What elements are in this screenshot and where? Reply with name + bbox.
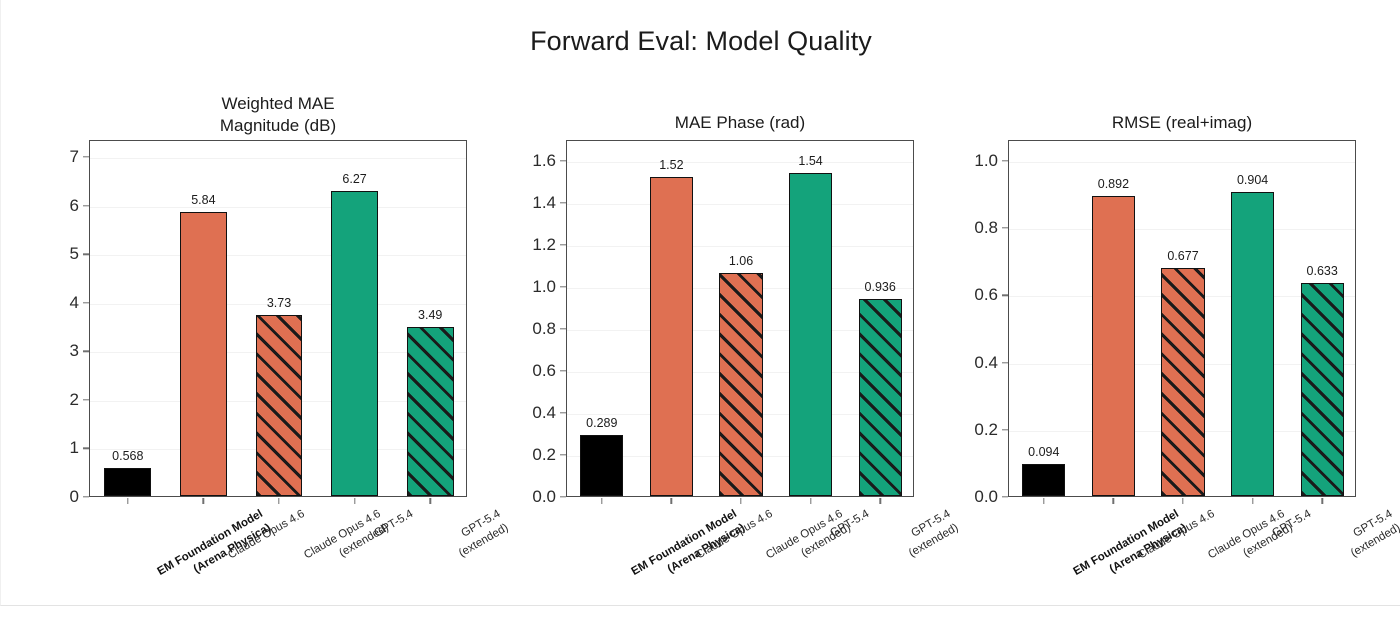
bar	[1092, 196, 1135, 496]
gridline	[1009, 229, 1355, 230]
x-tick-mark	[1113, 498, 1114, 504]
x-axis-category-label: Claude Opus 4.6 (extended)	[1206, 507, 1296, 577]
bar-value-label: 0.677	[1167, 249, 1198, 263]
y-tick-mark	[1002, 227, 1008, 228]
y-tick-mark	[1002, 362, 1008, 363]
plot-area: 0.0940.8920.6770.9040.633	[1008, 140, 1356, 497]
bar	[1231, 192, 1274, 496]
x-tick-mark	[1182, 498, 1183, 504]
bar-value-label: 0.892	[1098, 177, 1129, 191]
chart-panel-3: RMSE (real+imag)EM Foundation Model (Are…	[1, 0, 1400, 606]
x-tick-mark	[1043, 498, 1044, 504]
bar-value-label: 0.904	[1237, 173, 1268, 187]
y-tick-mark	[1002, 496, 1008, 497]
x-tick-mark	[1321, 498, 1322, 504]
y-tick-label: 0.6	[946, 285, 998, 305]
y-tick-mark	[1002, 429, 1008, 430]
bar	[1301, 283, 1344, 496]
y-tick-label: 1.0	[946, 151, 998, 171]
y-tick-label: 0.0	[946, 487, 998, 507]
bar	[1161, 268, 1204, 496]
panel-title: RMSE (real+imag)	[1008, 112, 1356, 134]
y-tick-mark	[1002, 295, 1008, 296]
y-tick-label: 0.8	[946, 218, 998, 238]
gridline	[1009, 162, 1355, 163]
bar	[1022, 464, 1065, 496]
x-tick-mark	[1252, 498, 1253, 504]
y-tick-mark	[1002, 160, 1008, 161]
x-axis-category-label: EM Foundation Model (Arena Physica)	[1071, 507, 1190, 594]
figure-canvas: Forward Eval: Model Quality Weighted MAE…	[0, 0, 1400, 606]
y-tick-label: 0.4	[946, 353, 998, 373]
bar-value-label: 0.633	[1307, 264, 1338, 278]
bar-value-label: 0.094	[1028, 445, 1059, 459]
x-axis-category-label: GPT-5.4 (extended)	[1341, 507, 1400, 561]
y-tick-label: 0.2	[946, 420, 998, 440]
